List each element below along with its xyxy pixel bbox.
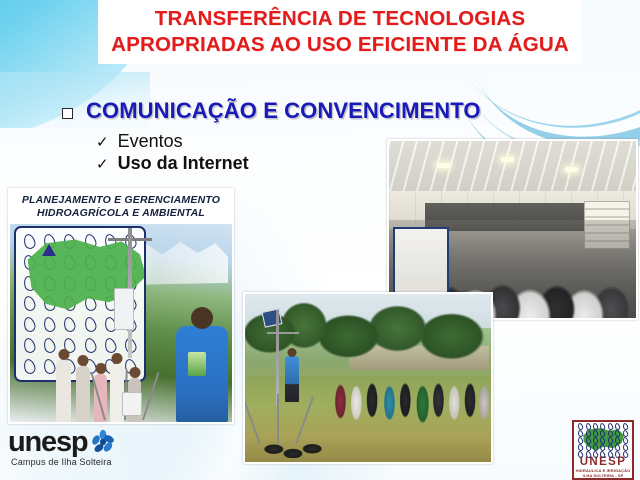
- planejamento-caption-line-2: HIDROAGRÍCOLA E AMBIENTAL: [37, 207, 205, 220]
- map-marker-icon: [42, 244, 56, 256]
- institute-logo-graphic: [577, 423, 629, 456]
- institute-logo: UNESP HIDRÁULICA E IRRIGAÇÃO ILHA SOLTEI…: [572, 420, 634, 480]
- presentation-slide: TRANSFERÊNCIA DE TECNOLOGIAS APROPRIADAS…: [0, 0, 640, 480]
- unesp-wordmark: unesp: [8, 428, 87, 456]
- ceiling-lamp: [565, 167, 578, 172]
- ceiling-lamp: [501, 157, 514, 162]
- sub-bullet-label: Eventos: [118, 131, 183, 152]
- check-bullet-icon: ✓: [96, 157, 109, 172]
- planejamento-image-body: [10, 224, 232, 422]
- sub-bullet-label: Uso da Internet: [118, 153, 249, 174]
- sub-bullet-item-eventos: ✓ Eventos: [96, 131, 183, 152]
- collector-drum: [122, 392, 142, 416]
- planejamento-caption: PLANEJAMENTO E GERENCIAMENTO HIDROAGRÍCO…: [10, 190, 232, 224]
- slide-title-banner: TRANSFERÊNCIA DE TECNOLOGIAS APROPRIADAS…: [98, 0, 582, 64]
- tyre-markers: [263, 436, 323, 458]
- main-bullet-label: COMUNICAÇÃO E CONVENCIMENTO: [86, 98, 481, 124]
- square-bullet-icon: [62, 108, 73, 119]
- sub-bullet-item-internet: ✓ Uso da Internet: [96, 153, 249, 174]
- unesp-campus-label: Campus de Ilha Solteira: [11, 457, 116, 467]
- starburst-icon: [90, 429, 116, 455]
- unesp-wordmark-row: unesp: [8, 428, 116, 456]
- unesp-logo: unesp Campus de Ilha Solteira: [8, 428, 116, 467]
- warehouse-ceiling: [389, 141, 636, 197]
- check-bullet-icon: ✓: [96, 135, 109, 150]
- rain-drop-grid: [577, 423, 629, 456]
- outdoor-field-group-photo: [243, 292, 493, 464]
- main-bullet-item: COMUNICAÇÃO E CONVENCIMENTO: [62, 98, 481, 124]
- person-blue-shirt: [285, 356, 299, 402]
- institute-logo-subtitle-2: ILHA SOLTEIRA - SP: [583, 473, 624, 478]
- person-blue-shirt: [176, 326, 228, 422]
- weather-station-mast: [276, 310, 279, 406]
- ceiling-lamp: [437, 163, 450, 168]
- planejamento-graphic: PLANEJAMENTO E GERENCIAMENTO HIDROAGRÍCO…: [8, 188, 234, 424]
- planejamento-caption-line-1: PLANEJAMENTO E GERENCIAMENTO: [22, 194, 220, 207]
- people-group: [331, 362, 489, 428]
- weather-station-arm: [267, 332, 299, 334]
- title-line-2: APROPRIADAS AO USO EFICIENTE DA ÁGUA: [111, 32, 569, 58]
- title-line-1: TRANSFERÊNCIA DE TECNOLOGIAS: [155, 6, 525, 32]
